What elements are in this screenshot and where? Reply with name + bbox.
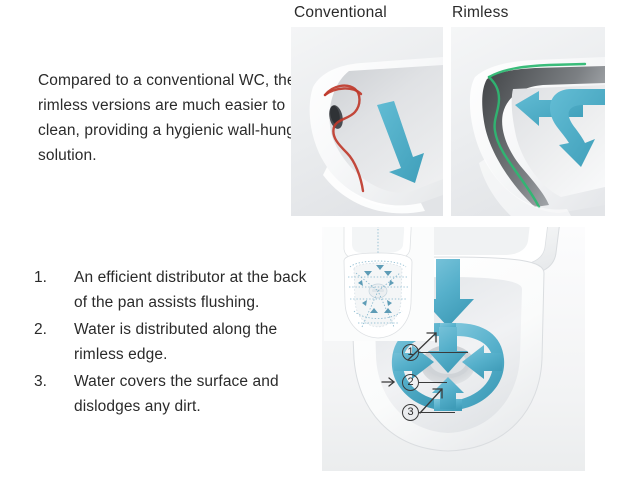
callout-leader-2 (419, 382, 447, 383)
callout-number-1: 1 (402, 344, 419, 361)
callout-leader-1 (419, 352, 468, 353)
intro-paragraph: Compared to a conventional WC, the rimle… (38, 68, 300, 168)
callout-leader-3 (419, 412, 455, 413)
step-text: An efficient distributor at the back of … (74, 265, 324, 315)
callout-number-3: 3 (402, 404, 419, 421)
photo-rimless-rim (451, 27, 605, 216)
photo-topview-rimless-wc (322, 227, 585, 471)
list-item: 2. Water is distributed along the rimles… (34, 317, 324, 367)
step-number: 2. (34, 317, 74, 342)
step-number: 1. (34, 265, 74, 290)
steps-list: 1. An efficient distributor at the back … (34, 265, 324, 421)
list-item: 3. Water covers the surface and dislodge… (34, 369, 324, 419)
caption-rimless: Rimless (452, 4, 509, 22)
step-text: Water is distributed along the rimless e… (74, 317, 324, 367)
step-text: Water covers the surface and dislodges a… (74, 369, 324, 419)
photo-conventional-rim (291, 27, 443, 216)
caption-conventional: Conventional (294, 4, 387, 22)
step-number: 3. (34, 369, 74, 394)
list-item: 1. An efficient distributor at the back … (34, 265, 324, 315)
callout-number-2: 2 (402, 374, 419, 391)
